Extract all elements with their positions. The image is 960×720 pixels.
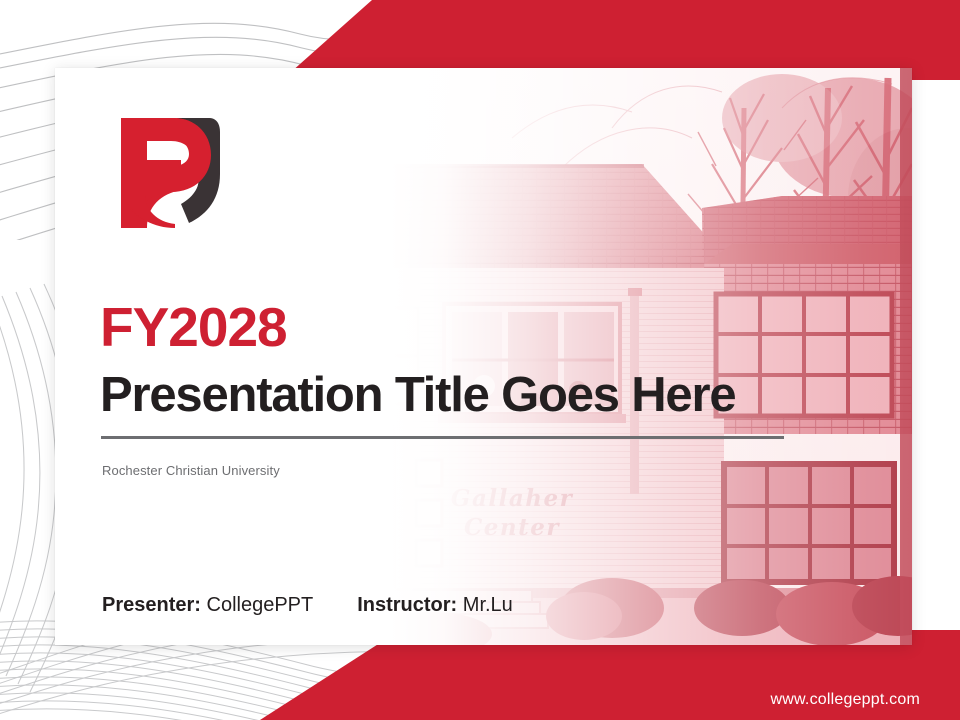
title-divider	[101, 436, 784, 439]
organization-name: Rochester Christian University	[102, 463, 280, 478]
presenter-credit: Presenter: CollegePPT	[102, 594, 313, 617]
presenter-value: CollegePPT	[207, 594, 314, 616]
instructor-credit: Instructor: Mr.Lu	[357, 594, 513, 617]
building-sign-line-2: Center	[407, 513, 617, 542]
slide-canvas: . .	[0, 0, 960, 720]
campus-building-photo: . .	[312, 68, 912, 645]
presentation-slide[interactable]: . .	[55, 68, 912, 645]
page-title: Presentation Title Goes Here	[100, 371, 735, 420]
building-sign-line-1: Gallaher	[407, 484, 617, 513]
instructor-value: Mr.Lu	[463, 594, 513, 616]
instructor-label: Instructor:	[357, 594, 457, 616]
slide-footer: Presenter: CollegePPT Instructor: Mr.Lu	[102, 594, 513, 617]
fiscal-year-heading: FY2028	[100, 300, 287, 355]
presenter-label: Presenter:	[102, 594, 201, 616]
rochester-r-logo[interactable]	[103, 110, 233, 230]
watermark-url[interactable]: www.collegeppt.com	[771, 691, 920, 709]
